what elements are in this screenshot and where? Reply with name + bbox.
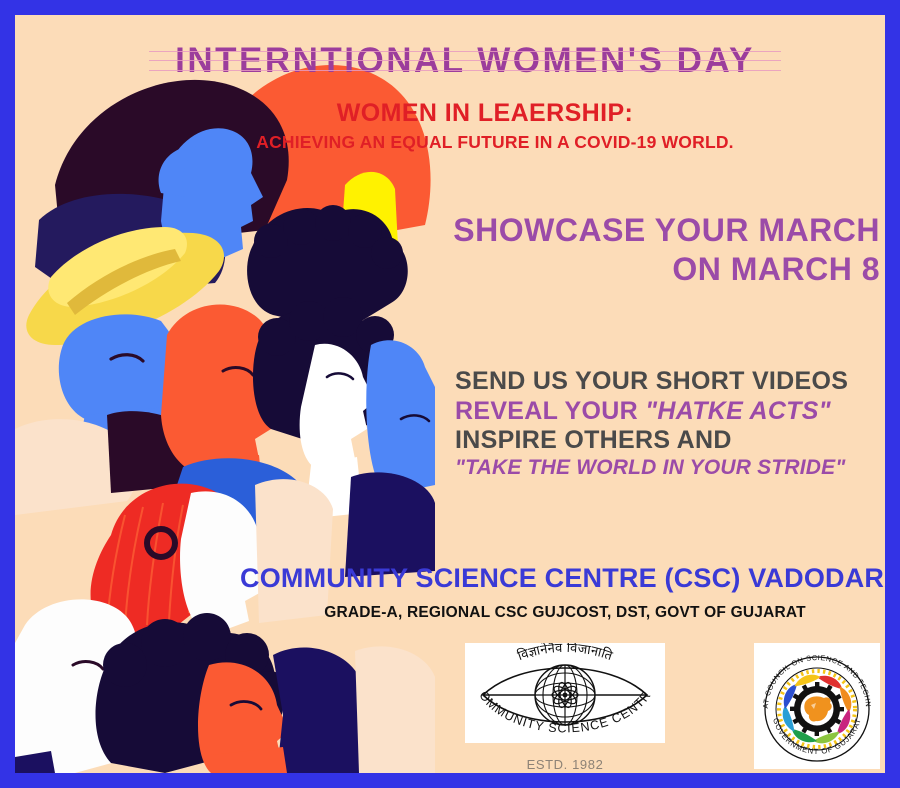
organisation-subtitle: GRADE-A, REGIONAL CSC GUJCOST, DST, GOVT… — [240, 604, 885, 622]
community-science-centre-logo: विज्ञानेनैव विजानाति — [465, 643, 665, 743]
cta-line-2: REVEAL YOUR "HATKE ACTS" — [455, 397, 880, 427]
poster-canvas: INTERNTIONAL WOMEN'S DAY WOMEN IN LEAERS… — [15, 15, 885, 773]
cta-line-4: "TAKE THE WORLD IN YOUR STRIDE" — [455, 456, 880, 481]
gujcost-logo: GUJARAT COUNCIL ON SCIENCE AND TECHNOLOG… — [754, 643, 880, 769]
women-silhouettes-illustration — [15, 15, 435, 773]
cta-line-2-quoted: "HATKE ACTS" — [645, 397, 831, 425]
showcase-line-1: SHOWCASE YOUR MARCH — [395, 211, 880, 250]
page-title-text: INTERNTIONAL WOMEN'S DAY — [175, 41, 755, 80]
showcase-callout: SHOWCASE YOUR MARCH ON MARCH 8 — [395, 211, 880, 289]
cta-line-2-plain: REVEAL YOUR — [455, 397, 645, 425]
cta-line-1: SEND US YOUR SHORT VIDEOS — [455, 367, 880, 397]
estd-label: ESTD. 1982 — [465, 757, 665, 772]
poster-title-wrapper: INTERNTIONAL WOMEN'S DAY — [125, 39, 805, 84]
page-title: INTERNTIONAL WOMEN'S DAY — [163, 39, 767, 84]
organisation-name: COMMUNITY SCIENCE CENTRE (CSC) VADODARA — [240, 563, 885, 594]
call-to-action-block: SEND US YOUR SHORT VIDEOS REVEAL YOUR "H… — [455, 367, 880, 480]
showcase-line-2: ON MARCH 8 — [395, 250, 880, 289]
subtitle-secondary: ACHIEVING AN EQUAL FUTURE IN A COVID-19 … — [135, 132, 855, 153]
cta-line-3: INSPIRE OTHERS AND — [455, 426, 880, 456]
poster-root: INTERNTIONAL WOMEN'S DAY WOMEN IN LEAERS… — [0, 0, 900, 788]
subtitle-primary: WOMEN IN LEAERSHIP: — [135, 99, 835, 128]
